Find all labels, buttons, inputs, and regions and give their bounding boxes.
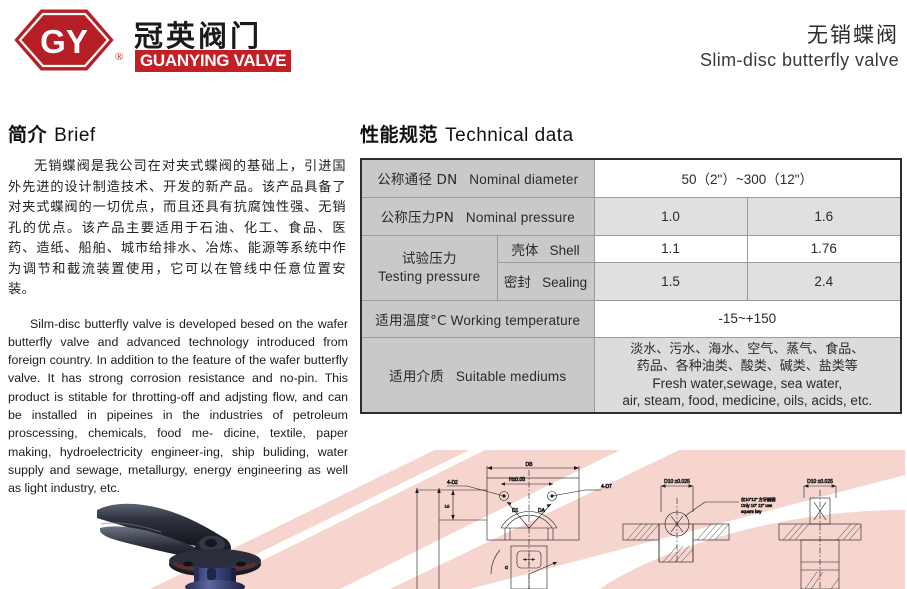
- value-shell-1: 1.1: [594, 235, 747, 262]
- label-en: Working temperature: [451, 313, 581, 328]
- table-row: 公称压力PN Nominal pressure 1.0 1.6: [361, 197, 901, 235]
- brief-heading-en: Brief: [54, 125, 96, 146]
- label-en: Nominal diameter: [469, 172, 578, 187]
- dim-label-d1: D1: [512, 508, 519, 514]
- row-label-testing-pressure: 试验压力 Testing pressure: [361, 235, 497, 300]
- table-row: 适用温度°C Working temperature -15~+150: [361, 300, 901, 337]
- dim-label-d10a: D10 ±0.025: [664, 479, 690, 485]
- label-cn: 公称通径 DN: [377, 172, 457, 188]
- page-header: GY ® 冠英阀门 GUANYING VALVE 无销蝶阀 Slim-disc …: [0, 0, 907, 95]
- mediums-en-line1: Fresh water,sewage, sea water,: [597, 375, 899, 392]
- technical-heading: 性能规范 Technical data: [360, 120, 900, 147]
- note-label-en1: Only 10" 12" use: [741, 503, 773, 508]
- table-row: 适用介质 Suitable mediums 淡水、污水、海水、空气、蒸气、食品、…: [361, 337, 901, 413]
- company-logo: GY ® 冠英阀门 GUANYING VALVE: [14, 9, 344, 79]
- valve-product-photo: [55, 480, 355, 589]
- brief-heading: 简介 Brief: [8, 120, 346, 147]
- value-sealing-2: 2.4: [747, 262, 901, 300]
- mediums-cn-line1: 淡水、污水、海水、空气、蒸气、食品、: [597, 341, 899, 358]
- row-label-working-temperature: 适用温度°C Working temperature: [361, 300, 594, 337]
- bottom-graphics-area: DB H±0.05: [0, 450, 907, 589]
- dim-label-db: DB: [526, 462, 534, 468]
- label-cn: 公称压力PN: [381, 210, 454, 226]
- mediums-en-line2: air, steam, food, medicine, oils, acids,…: [597, 392, 899, 409]
- dim-label-d2: 4-D2: [447, 480, 458, 486]
- logo-text: GY: [40, 23, 88, 60]
- dim-label-d7: 4-D7: [601, 484, 612, 490]
- mediums-cn-line2: 药品、各种油类、酸类、碱类、盐类等: [597, 358, 899, 375]
- brief-section: 简介 Brief 无销蝶阀是我公司在对夹式蝶阀的基础上，引进国外先进的设计制造技…: [8, 120, 346, 497]
- product-title-block: 无销蝶阀 Slim-disc butterfly valve: [700, 22, 899, 72]
- product-title-chinese: 无销蝶阀: [700, 22, 899, 48]
- value-sealing-1: 1.5: [594, 262, 747, 300]
- label-cn: 适用温度°C: [375, 313, 446, 329]
- engineering-drawings: DB H±0.05: [405, 450, 907, 589]
- technical-data-section: 性能规范 Technical data 公称通径 DN Nominal diam…: [360, 120, 900, 414]
- technical-heading-cn: 性能规范: [360, 124, 438, 146]
- datasheet-page: GY ® 冠英阀门 GUANYING VALVE 无销蝶阀 Slim-disc …: [0, 0, 907, 589]
- dim-label-h: H±0.05: [509, 477, 525, 483]
- label-en: Nominal pressure: [466, 210, 575, 225]
- product-title-english: Slim-disc butterfly valve: [700, 48, 899, 72]
- gy-hexagon-logo-icon: GY: [14, 9, 114, 71]
- registered-trademark-icon: ®: [115, 51, 123, 63]
- table-row: 公称通径 DN Nominal diameter 50（2"）~300（12"）: [361, 159, 901, 197]
- brand-name-english: GUANYING VALVE: [135, 50, 291, 72]
- row-label-nominal-pressure: 公称压力PN Nominal pressure: [361, 197, 594, 235]
- dim-label-da: DA: [538, 508, 546, 514]
- row-label-nominal-diameter: 公称通径 DN Nominal diameter: [361, 159, 594, 197]
- label-cn: 适用介质: [389, 369, 444, 385]
- drawing-stem-key-section: 仅10"12" 方牙圆键 Only 10" 12" use square key…: [623, 479, 776, 562]
- value-suitable-mediums: 淡水、污水、海水、空气、蒸气、食品、 药品、各种油类、酸类、碱类、盐类等 Fre…: [594, 337, 901, 413]
- brand-name-chinese: 冠英阀门: [134, 13, 262, 55]
- table-row: 试验压力 Testing pressure 壳体 Shell 1.1 1.76: [361, 235, 901, 262]
- drawing-e-dimension: E: [415, 488, 487, 589]
- label-cn: 壳体: [511, 243, 538, 259]
- specification-table: 公称通径 DN Nominal diameter 50（2"）~300（12"）…: [360, 158, 902, 414]
- dim-label-d10b: D10 ±0.025: [807, 479, 833, 485]
- value-nominal-diameter: 50（2"）~300（12"）: [594, 159, 901, 197]
- row-label-suitable-mediums: 适用介质 Suitable mediums: [361, 337, 594, 413]
- note-label-en2: square key: [741, 509, 762, 514]
- valve-stem-nut: [207, 568, 216, 580]
- row-label-sealing: 密封 Sealing: [497, 262, 594, 300]
- value-nominal-pressure-2: 1.6: [747, 197, 901, 235]
- brief-paragraph-chinese: 无销蝶阀是我公司在对夹式蝶阀的基础上，引进国外先进的设计制造技术、开发的新产品。…: [8, 157, 346, 301]
- value-shell-2: 1.76: [747, 235, 901, 262]
- label-en: Shell: [550, 243, 580, 258]
- label-cn: 密封: [504, 275, 531, 291]
- label-en: Sealing: [542, 275, 587, 290]
- drawing-top-flange-plan: DB H±0.05: [447, 462, 612, 589]
- note-label-cn: 仅10"12" 方牙圆键: [741, 496, 776, 503]
- label-en: Suitable mediums: [456, 369, 567, 384]
- row-label-shell: 壳体 Shell: [497, 235, 594, 262]
- value-working-temperature: -15~+150: [594, 300, 901, 337]
- label-en: Testing pressure: [378, 269, 480, 284]
- drawing-stem-elevation: D10 ±0.025: [779, 479, 861, 589]
- dim-label-e: E: [445, 504, 451, 508]
- label-cn: 试验压力: [402, 251, 457, 267]
- value-nominal-pressure-1: 1.0: [594, 197, 747, 235]
- dim-label-alpha: α: [505, 565, 508, 571]
- brief-heading-cn: 简介: [8, 124, 47, 146]
- technical-heading-en: Technical data: [445, 125, 573, 146]
